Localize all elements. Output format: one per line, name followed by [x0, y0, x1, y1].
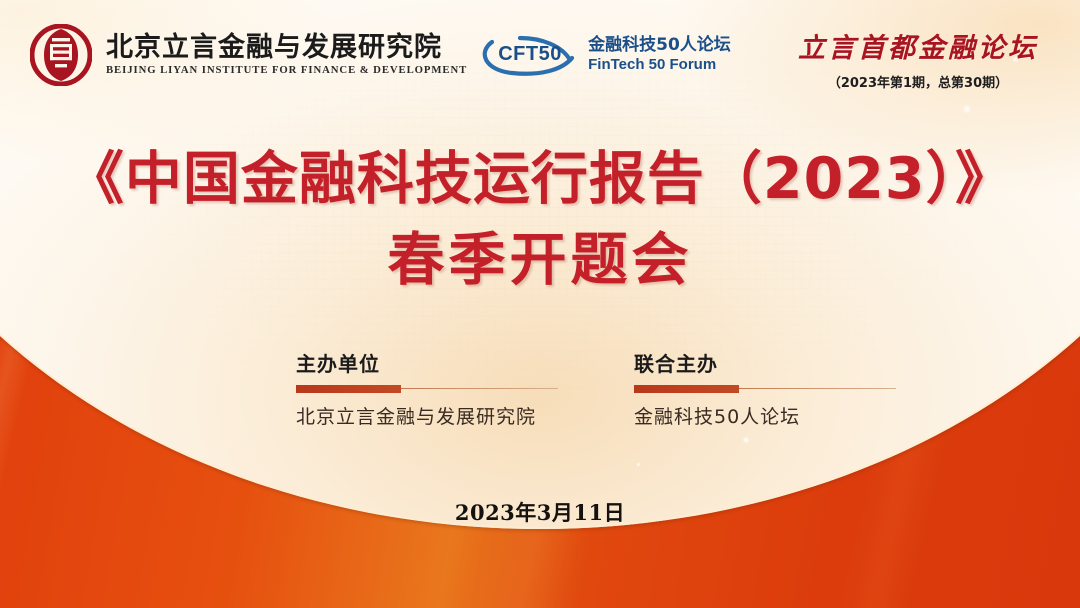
partner-name-cn: 金融科技50人论坛 [588, 36, 731, 56]
organizer-co-host-label: 联合主办 [634, 348, 896, 377]
institute-name-en: BEIJING LIYAN INSTITUTE FOR FINANCE & DE… [106, 65, 467, 76]
forum-issue-number: （2023年第1期，总第30期） [798, 72, 1038, 91]
header-branding: 北京立言金融与发展研究院 BEIJING LIYAN INSTITUTE FOR… [30, 24, 731, 86]
organizers-section: 主办单位 北京立言金融与发展研究院 联合主办 金融科技50人论坛 [296, 348, 896, 429]
institute-name-block: 北京立言金融与发展研究院 BEIJING LIYAN INSTITUTE FOR… [106, 34, 460, 76]
organizer-host-rule [296, 385, 558, 393]
event-date: 2023年3月11日 [0, 497, 1080, 527]
partner-name-en: FinTech 50 Forum [588, 56, 731, 74]
organizer-host-name: 北京立言金融与发展研究院 [296, 402, 558, 429]
forum-series-title: 立言首都金融论坛 [798, 26, 1038, 65]
institute-name-cn: 北京立言金融与发展研究院 [106, 34, 460, 62]
liyan-seal-icon [30, 24, 92, 86]
organizer-co-host: 联合主办 金融科技50人论坛 [634, 348, 896, 429]
organizer-co-host-rule [634, 385, 896, 393]
title-line-2: 春季开题会 [0, 227, 1080, 294]
title-line-1: 《中国金融科技运行报告（2023）》 [0, 146, 1080, 213]
presentation-slide: 北京立言金融与发展研究院 BEIJING LIYAN INSTITUTE FOR… [0, 0, 1080, 608]
cft50-swoosh-icon: CFT50 [482, 32, 578, 78]
page-title: 《中国金融科技运行报告（2023）》 春季开题会 [0, 146, 1080, 295]
partner-name-block: 金融科技50人论坛 FinTech 50 Forum [588, 36, 731, 74]
organizer-host: 主办单位 北京立言金融与发展研究院 [296, 348, 558, 429]
rule-thick-bar [634, 385, 739, 393]
forum-series-block: 立言首都金融论坛 （2023年第1期，总第30期） [798, 26, 1038, 91]
rule-thick-bar [296, 385, 401, 393]
partner-branding: CFT50 金融科技50人论坛 FinTech 50 Forum [482, 32, 731, 78]
organizer-host-label: 主办单位 [296, 348, 558, 377]
organizer-co-host-name: 金融科技50人论坛 [634, 402, 896, 429]
svg-text:CFT50: CFT50 [498, 43, 562, 65]
